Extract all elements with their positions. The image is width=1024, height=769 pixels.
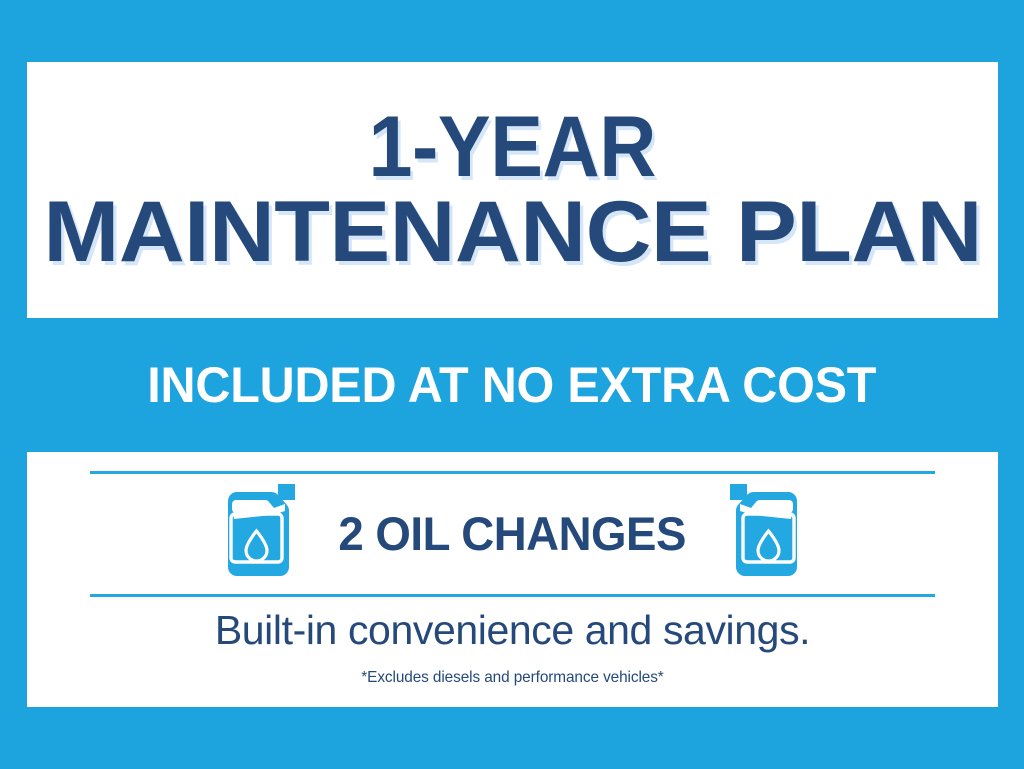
divider-bottom (90, 594, 935, 597)
oil-jug-icon-left (221, 481, 299, 586)
oil-jug-icon-right (726, 481, 804, 586)
disclaimer-text: *Excludes diesels and performance vehicl… (46, 669, 978, 687)
subhead-band: INCLUDED AT NO EXTRA COST (0, 318, 1024, 452)
divider-top (90, 471, 935, 474)
headline-line-2: MAINTENANCE PLAN (43, 193, 982, 272)
detail-card: 2 OIL CHANGES Built-in convenience and s… (27, 452, 998, 707)
feature-label: 2 OIL CHANGES (339, 506, 687, 561)
feature-row: 2 OIL CHANGES (27, 476, 998, 590)
subhead-text: INCLUDED AT NO EXTRA COST (148, 356, 877, 414)
headline-line-1: 1-YEAR (369, 108, 656, 187)
tagline-text: Built-in convenience and savings. (27, 607, 998, 654)
headline-panel: 1-YEAR MAINTENANCE PLAN (27, 62, 998, 318)
maintenance-plan-poster: 1-YEAR MAINTENANCE PLAN INCLUDED AT NO E… (0, 0, 1024, 769)
